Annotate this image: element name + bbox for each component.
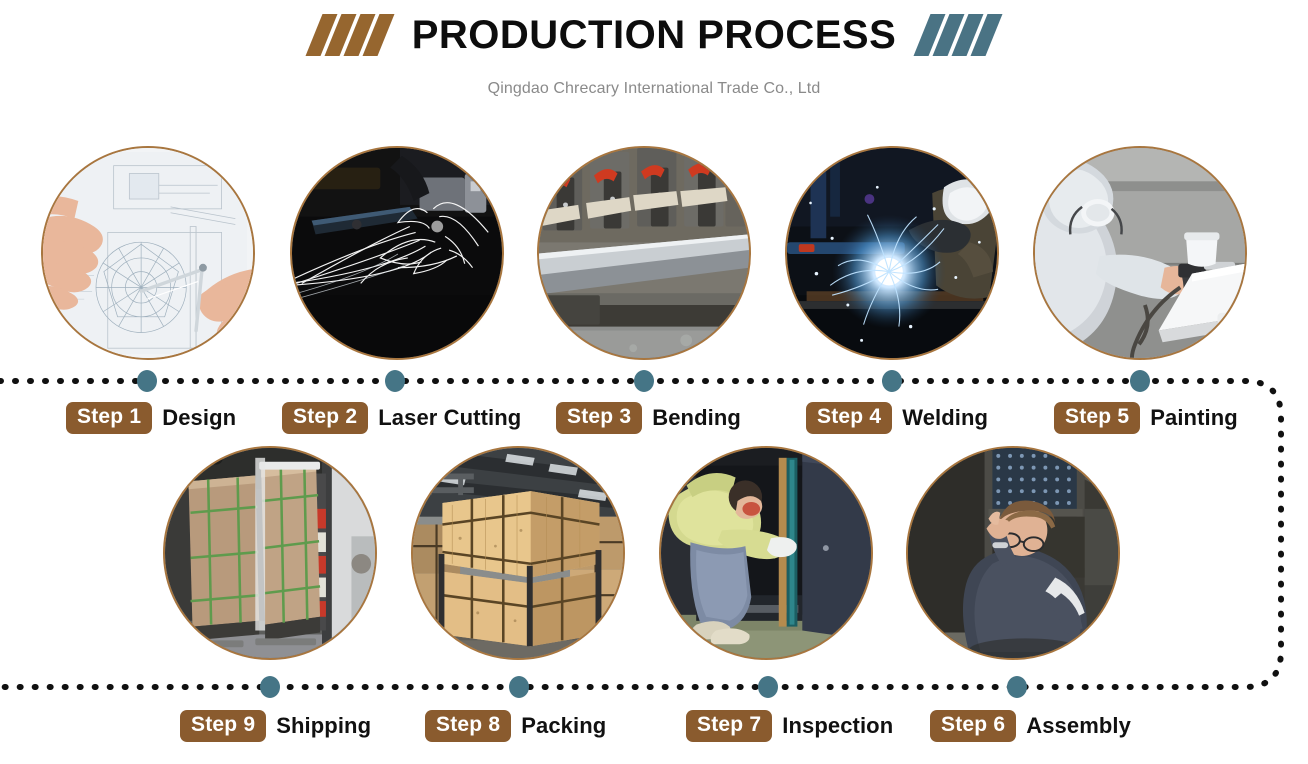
company-subtitle: Qingdao Chrecary International Trade Co.… <box>0 80 1308 98</box>
caption-step-7: Step 7 Inspection <box>686 710 893 742</box>
caption-step-1: Step 1 Design <box>66 402 236 434</box>
caption-step-6: Step 6 Assembly <box>930 710 1131 742</box>
step-label: Assembly <box>1026 713 1131 739</box>
step-label: Laser Cutting <box>378 405 521 431</box>
timeline-node-3 <box>634 370 654 392</box>
step-label: Design <box>162 405 236 431</box>
step-badge: Step 8 <box>425 710 511 742</box>
inspection-photo <box>659 446 873 660</box>
caption-step-2: Step 2 Laser Cutting <box>282 402 521 434</box>
caption-step-8: Step 8 Packing <box>425 710 606 742</box>
assembly-photo <box>906 446 1120 660</box>
step-badge: Step 5 <box>1054 402 1140 434</box>
bending-photo <box>537 146 751 360</box>
step-badge: Step 4 <box>806 402 892 434</box>
step-badge: Step 3 <box>556 402 642 434</box>
step-badge: Step 6 <box>930 710 1016 742</box>
step-badge: Step 7 <box>686 710 772 742</box>
timeline-node-1 <box>137 370 157 392</box>
packing-photo <box>411 446 625 660</box>
timeline-node-2 <box>385 370 405 392</box>
timeline-node-6 <box>1007 676 1027 698</box>
title-row: PRODUCTION PROCESS <box>0 14 1308 56</box>
caption-step-3: Step 3 Bending <box>556 402 741 434</box>
caption-step-9: Step 9 Shipping <box>180 710 371 742</box>
process-row-top: Step 1 Design <box>0 140 1308 440</box>
right-slashes-icon <box>922 14 994 56</box>
timeline-node-8 <box>509 676 529 698</box>
left-slashes-icon <box>314 14 386 56</box>
timeline-node-5 <box>1130 370 1150 392</box>
page-title: PRODUCTION PROCESS <box>412 15 897 55</box>
step-label: Shipping <box>276 713 371 739</box>
step-badge: Step 9 <box>180 710 266 742</box>
step-label: Inspection <box>782 713 893 739</box>
timeline-node-7 <box>758 676 778 698</box>
laser-cutting-photo <box>290 146 504 360</box>
timeline-node-9 <box>260 676 280 698</box>
shipping-photo <box>163 446 377 660</box>
step-label: Bending <box>652 405 741 431</box>
header: PRODUCTION PROCESS Qingdao Chrecary Inte… <box>0 0 1308 120</box>
timeline-node-4 <box>882 370 902 392</box>
step-label: Welding <box>902 405 988 431</box>
step-label: Painting <box>1150 405 1238 431</box>
step-badge: Step 1 <box>66 402 152 434</box>
design-photo <box>41 146 255 360</box>
caption-step-5: Step 5 Painting <box>1054 402 1238 434</box>
production-process-infographic: PRODUCTION PROCESS Qingdao Chrecary Inte… <box>0 0 1308 764</box>
welding-photo <box>785 146 999 360</box>
process-row-bottom: Step 9 Shipping <box>0 446 1308 746</box>
caption-step-4: Step 4 Welding <box>806 402 988 434</box>
step-badge: Step 2 <box>282 402 368 434</box>
step-label: Packing <box>521 713 606 739</box>
painting-photo <box>1033 146 1247 360</box>
